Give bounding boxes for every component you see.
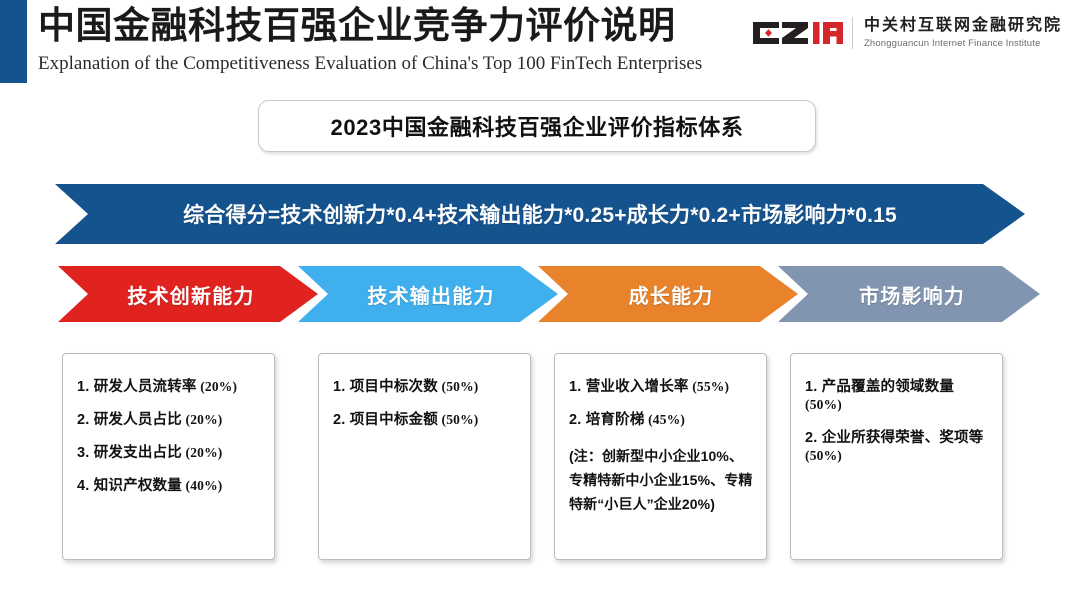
- detail-item: 3. 研发支出占比 (20%): [77, 444, 262, 462]
- detail-box-2: 1. 营业收入增长率 (55%)2. 培育阶梯 (45%)(注：创新型中小企业1…: [554, 353, 767, 560]
- detail-item: 1. 产品覆盖的领域数量 (50%): [805, 378, 990, 414]
- logo-divider: [852, 17, 853, 49]
- detail-item-weight: (45%): [645, 412, 686, 427]
- detail-item-weight: (50%): [438, 379, 479, 394]
- detail-item-weight: (20%): [182, 445, 223, 460]
- category-chevron-1: 技术输出能力: [298, 266, 558, 322]
- detail-item: 2. 项目中标金额 (50%): [333, 411, 518, 429]
- detail-item: 2. 企业所获得荣誉、奖项等 (50%): [805, 429, 990, 465]
- detail-box-1: 1. 项目中标次数 (50%)2. 项目中标金额 (50%): [318, 353, 531, 560]
- score-formula-banner: 综合得分=技术创新力*0.4+技术输出能力*0.25+成长力*0.2+市场影响力…: [55, 184, 1025, 244]
- institute-logo: 中关村互联网金融研究院 Zhongguancun Internet Financ…: [751, 11, 1062, 55]
- detail-item-weight: (50%): [805, 448, 842, 463]
- page-title-en: Explanation of the Competitiveness Evalu…: [38, 51, 738, 77]
- detail-item-text: 2. 培育阶梯: [569, 412, 645, 428]
- category-chevron-2: 成长能力: [538, 266, 798, 322]
- logo-text: 中关村互联网金融研究院 Zhongguancun Internet Financ…: [864, 16, 1062, 50]
- detail-item-weight: (50%): [438, 412, 479, 427]
- detail-item-text: 1. 营业收入增长率: [569, 379, 689, 395]
- detail-item-text: 4. 知识产权数量: [77, 478, 182, 494]
- detail-item: 2. 研发人员占比 (20%): [77, 411, 262, 429]
- score-formula-text: 综合得分=技术创新力*0.4+技术输出能力*0.25+成长力*0.2+市场影响力…: [183, 199, 897, 229]
- detail-item-weight: (20%): [182, 412, 223, 427]
- detail-item: 2. 培育阶梯 (45%): [569, 411, 754, 429]
- logo-name-en: Zhongguancun Internet Finance Institute: [864, 37, 1062, 50]
- header: 中国金融科技百强企业竞争力评价说明 Explanation of the Com…: [38, 4, 738, 77]
- logo-name-cn: 中关村互联网金融研究院: [864, 16, 1062, 35]
- detail-box-note: (注：创新型中小企业10%、专精特新中小企业15%、专精特新“小巨人”企业20%…: [569, 444, 754, 516]
- detail-item-text: 2. 项目中标金额: [333, 412, 438, 428]
- category-label-1: 技术输出能力: [361, 280, 494, 309]
- page-title-cn: 中国金融科技百强企业竞争力评价说明: [38, 4, 738, 50]
- detail-box-row: 1. 研发人员流转率 (20%)2. 研发人员占比 (20%)3. 研发支出占比…: [0, 353, 1080, 563]
- category-chevron-0: 技术创新能力: [58, 266, 318, 322]
- header-accent-bar: [0, 0, 27, 83]
- slide-canvas: 中国金融科技百强企业竞争力评价说明 Explanation of the Com…: [0, 0, 1080, 608]
- detail-item: 1. 研发人员流转率 (20%): [77, 378, 262, 396]
- detail-item-text: 1. 产品覆盖的领域数量: [805, 379, 954, 395]
- detail-item: 4. 知识产权数量 (40%): [77, 477, 262, 495]
- detail-item-text: 2. 研发人员占比: [77, 412, 182, 428]
- detail-item-text: 2. 企业所获得荣誉、奖项等: [805, 430, 983, 446]
- detail-item: 1. 营业收入增长率 (55%): [569, 378, 754, 396]
- detail-item-text: 3. 研发支出占比: [77, 445, 182, 461]
- category-chevron-3: 市场影响力: [778, 266, 1040, 322]
- czifi-wordmark-icon: [751, 20, 843, 46]
- detail-item-text: 1. 项目中标次数: [333, 379, 438, 395]
- detail-item-text: 1. 研发人员流转率: [77, 379, 197, 395]
- category-label-2: 成长能力: [623, 280, 714, 309]
- index-system-title-box: 2023中国金融科技百强企业评价指标体系: [258, 100, 816, 152]
- detail-box-0: 1. 研发人员流转率 (20%)2. 研发人员占比 (20%)3. 研发支出占比…: [62, 353, 275, 560]
- detail-box-3: 1. 产品覆盖的领域数量 (50%)2. 企业所获得荣誉、奖项等 (50%): [790, 353, 1003, 560]
- category-label-3: 市场影响力: [853, 280, 965, 309]
- index-system-title: 2023中国金融科技百强企业评价指标体系: [331, 110, 744, 142]
- detail-item-weight: (50%): [805, 397, 842, 412]
- detail-item-weight: (40%): [182, 478, 223, 493]
- category-chevron-row: 技术创新能力 技术输出能力 成长能力 市场影响力: [0, 266, 1080, 328]
- category-label-0: 技术创新能力: [121, 280, 254, 309]
- detail-item-weight: (55%): [689, 379, 730, 394]
- detail-item: 1. 项目中标次数 (50%): [333, 378, 518, 396]
- detail-item-weight: (20%): [197, 379, 238, 394]
